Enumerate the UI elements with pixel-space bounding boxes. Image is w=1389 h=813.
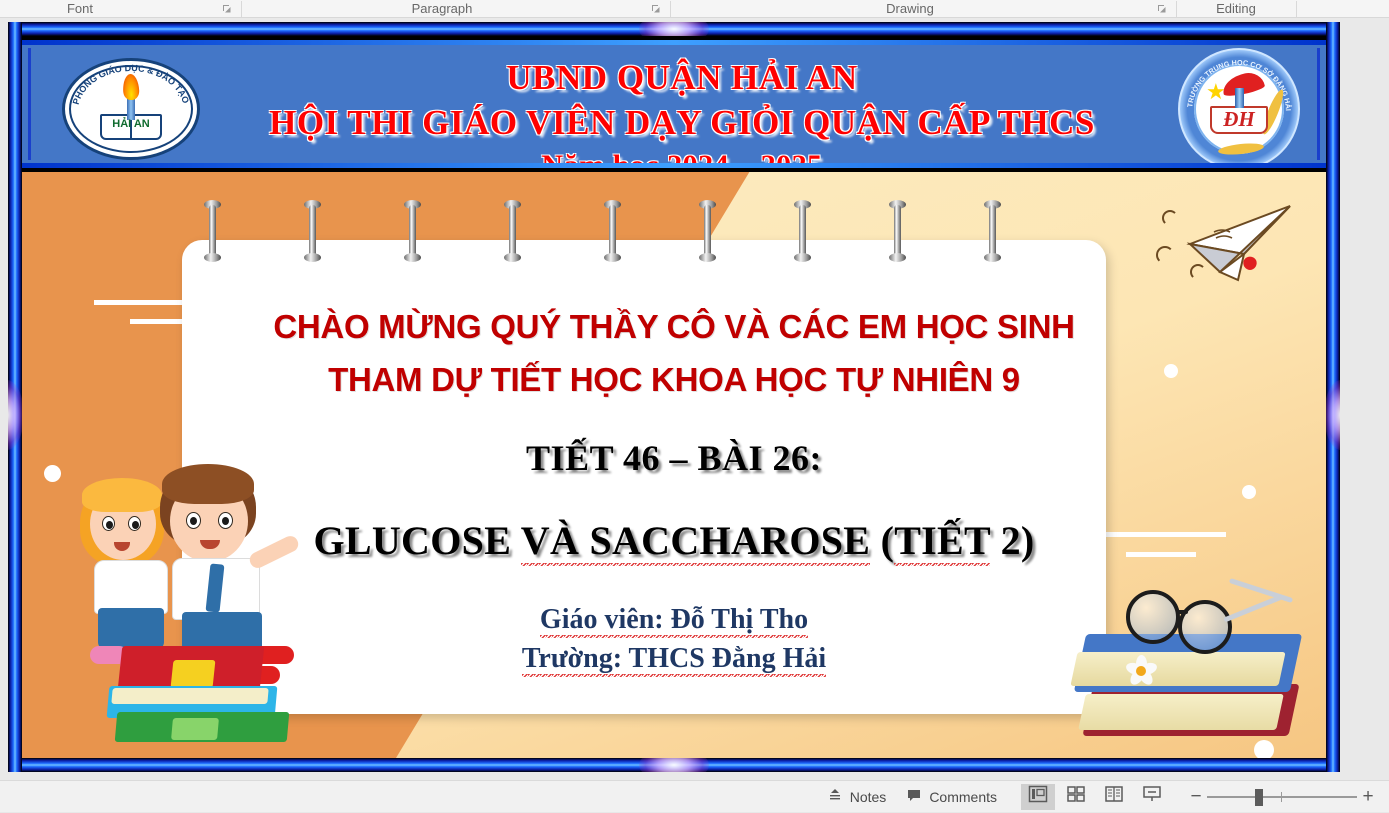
students-on-books-illustration [76, 460, 316, 730]
lesson-title-paren-open: ( [870, 518, 894, 563]
reading-view-button[interactable] [1097, 784, 1131, 810]
lesson-title-tiet-flagged: TIẾT [894, 518, 990, 566]
ribbon-separator [670, 1, 671, 17]
comments-button[interactable]: Comments [896, 781, 1007, 813]
welcome-line-1: CHÀO MỪNG QUÝ THẦY CÔ VÀ CÁC EM HỌC SINH [22, 300, 1326, 353]
phong-giao-duc-seal-icon: PHÒNG GIÁO DỤC & ĐÀO TẠO HẢI AN [62, 58, 200, 160]
seal-inner-text: HẢI AN [101, 118, 161, 130]
ribbon-group-paragraph-label: Paragraph [412, 0, 473, 18]
binding-ring [504, 200, 521, 262]
slide-sorter-view-button[interactable] [1059, 784, 1093, 810]
welcome-line-2: THAM DỰ TIẾT HỌC KHOA HỌC TỰ NHIÊN 9 [22, 353, 1326, 406]
ribbon-group-drawing: Drawing [810, 0, 1010, 18]
normal-view-icon [1028, 785, 1048, 808]
binding-ring [984, 200, 1001, 262]
ribbon-group-editing: Editing [1186, 0, 1286, 18]
binding-ring [404, 200, 421, 262]
binding-ring [794, 200, 811, 262]
zoom-slider-tick [1281, 792, 1282, 802]
decor-dot [1242, 485, 1256, 499]
zoom-out-button[interactable]: − [1185, 786, 1207, 808]
school-name-text: Trường: THCS Đằng Hải [522, 643, 826, 677]
lesson-title-tail: 2) [990, 518, 1034, 563]
ribbon-separator [1296, 1, 1297, 17]
binding-ring [304, 200, 321, 262]
decor-swirl [1190, 264, 1206, 280]
school-name-line: Trường: THCS Đằng Hải [22, 639, 1326, 678]
school-monogram: ĐH [1210, 106, 1268, 132]
ribbon-group-font-label: Font [67, 0, 93, 18]
lesson-number-text[interactable]: TIẾT 46 – BÀI 26: [22, 435, 1326, 481]
notes-button[interactable]: Notes [817, 781, 897, 813]
lesson-title-text[interactable]: GLUCOSE VÀ SACCHAROSE (TIẾT 2) [22, 515, 1326, 567]
thcs-dang-hai-seal-icon: TRƯỜNG TRUNG HỌC CƠ SỞ ĐẰNG HẢI ĐH [1178, 48, 1300, 170]
zoom-slider-thumb[interactable] [1255, 789, 1263, 806]
book-green-band [171, 718, 219, 740]
paragraph-dialog-launcher-icon[interactable] [651, 4, 661, 14]
welcome-text-block[interactable]: CHÀO MỪNG QUÝ THẦY CÔ VÀ CÁC EM HỌC SINH… [22, 300, 1326, 406]
lesson-title-part-plain: GLUCOSE [313, 518, 520, 563]
slide-content-area[interactable]: CHÀO MỪNG QUÝ THẦY CÔ VÀ CÁC EM HỌC SINH… [22, 172, 1326, 758]
ribbon-group-editing-label: Editing [1216, 0, 1256, 18]
notes-icon [827, 787, 843, 806]
normal-view-button[interactable] [1021, 784, 1055, 810]
book-cyan-pages [111, 688, 268, 704]
teacher-info-block[interactable]: Giáo viên: Đỗ Thị Tho Trường: THCS Đằng … [22, 600, 1326, 678]
slide-header-banner[interactable]: PHÒNG GIÁO DỤC & ĐÀO TẠO HẢI AN UBND QUẬ… [22, 36, 1326, 172]
slide-border-right [1326, 22, 1340, 772]
book-dark-red-pages [1078, 694, 1284, 730]
ribbon-separator [1176, 1, 1177, 17]
teacher-name-line: Giáo viên: Đỗ Thị Tho [22, 600, 1326, 639]
zoom-slider[interactable] [1207, 788, 1357, 806]
slide-show-icon [1142, 785, 1162, 808]
ribbon-group-drawing-label: Drawing [886, 0, 934, 18]
status-bar[interactable]: Notes Comments [0, 780, 1389, 812]
ribbon-separator [241, 1, 242, 17]
zoom-in-button[interactable]: + [1357, 786, 1379, 808]
teacher-name-text: Giáo viên: Đỗ Thị Tho [540, 604, 808, 638]
drawing-dialog-launcher-icon[interactable] [1157, 4, 1167, 14]
banner-line-2: HỘI THI GIÁO VIÊN DẠY GIỎI QUẬN CẤP THCS [232, 100, 1132, 146]
slide-show-button[interactable] [1135, 784, 1169, 810]
slide-border-bottom [8, 758, 1340, 772]
ribbon-group-font: Font [0, 0, 160, 18]
banner-title-block: UBND QUẬN HẢI AN HỘI THI GIÁO VIÊN DẠY G… [232, 56, 1132, 172]
notes-label: Notes [850, 789, 887, 805]
binding-ring [889, 200, 906, 262]
ribbon-group-label-strip: Font Paragraph Drawing Editing [0, 0, 1389, 18]
binding-ring [604, 200, 621, 262]
zoom-control[interactable]: − + [1185, 786, 1379, 808]
ribbon-group-paragraph: Paragraph [342, 0, 542, 18]
lesson-title-part-flagged: VÀ SACCHAROSE [521, 518, 871, 566]
slide-sorter-icon [1066, 785, 1086, 808]
slide-canvas[interactable]: PHÒNG GIÁO DỤC & ĐÀO TẠO HẢI AN UBND QUẬ… [8, 22, 1340, 772]
slide-border-left [8, 22, 22, 772]
comments-label: Comments [929, 789, 997, 805]
view-buttons-group[interactable] [1019, 784, 1171, 810]
decor-swirl [1162, 210, 1178, 226]
girl-bangs [82, 478, 162, 512]
banner-line-1: UBND QUẬN HẢI AN [232, 56, 1132, 100]
slide-workspace[interactable]: PHÒNG GIÁO DỤC & ĐÀO TẠO HẢI AN UBND QUẬ… [0, 18, 1389, 780]
spiral-binding [182, 200, 1106, 268]
decor-swirl [1156, 246, 1174, 264]
banner-line-3: Năm học 2024 – 2025 [232, 146, 1132, 172]
zoom-slider-track [1207, 796, 1357, 798]
font-dialog-launcher-icon[interactable] [222, 4, 232, 14]
binding-ring [699, 200, 716, 262]
binding-ring [204, 200, 221, 262]
reading-view-icon [1104, 785, 1124, 808]
slide-border-top [8, 22, 1340, 36]
comment-icon [906, 787, 922, 806]
